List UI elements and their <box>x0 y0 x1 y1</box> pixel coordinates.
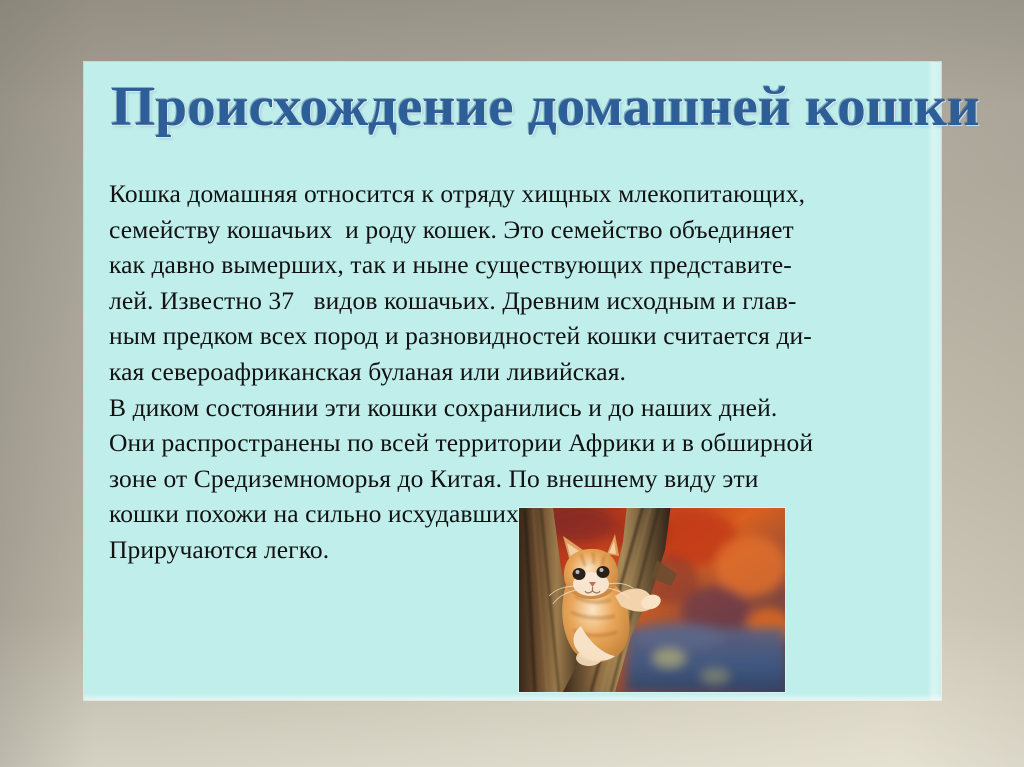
kitten-photo <box>519 508 785 692</box>
presentation-slide: Происхождение домашней кошки Кошка домаш… <box>0 0 1024 767</box>
slide-body-text: Кошка домашняя относится к отряду хищных… <box>109 176 924 568</box>
kitten-photo-graphic <box>519 508 785 692</box>
panel-right-highlight <box>927 62 941 700</box>
panel-bottom-highlight <box>84 693 941 700</box>
body-paragraph-1: Кошка домашняя относится к отряду хищных… <box>109 176 924 390</box>
body-paragraph-2: В диком состоянии эти кошки сохранились … <box>109 390 924 568</box>
content-panel: Происхождение домашней кошки Кошка домаш… <box>84 62 941 700</box>
slide-title: Происхождение домашней кошки <box>111 79 947 135</box>
